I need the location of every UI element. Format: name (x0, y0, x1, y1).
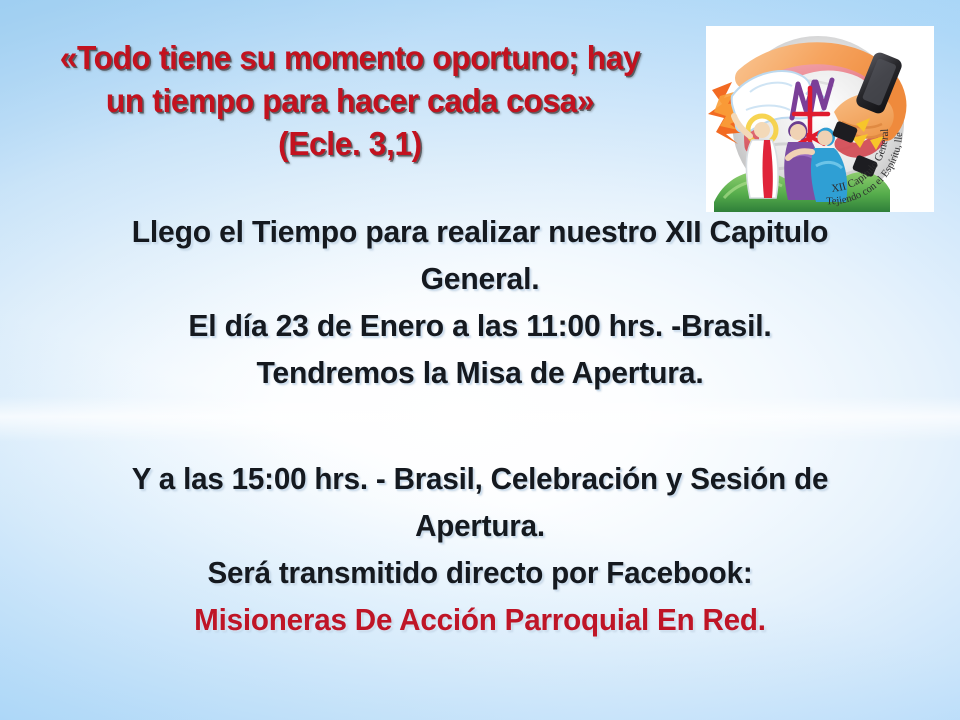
announcement-line-7: Será transmitido directo por Facebook: (14, 550, 945, 597)
scripture-quote-block: «Todo tiene su momento oportuno; hay un … (0, 36, 700, 165)
announcement-line-3: El día 23 de Enero a las 11:00 hrs. -Bra… (14, 302, 945, 349)
scripture-quote-line-1: «Todo tiene su momento oportuno; hay (14, 36, 686, 79)
xii-capitulo-general-logo: Tejiendo con el Espíritu, llenas de espe… (706, 26, 934, 212)
announcement-line-1: Llego el Tiempo para realizar nuestro XI… (14, 208, 945, 255)
scripture-quote-line-2: un tiempo para hacer cada cosa» (14, 79, 686, 122)
announcement-lower-block: Y a las 15:00 hrs. - Brasil, Celebración… (0, 456, 960, 644)
announcement-line-2: General. (14, 255, 945, 302)
announcement-line-4: Tendremos la Misa de Apertura. (14, 349, 945, 396)
facebook-page-name: Misioneras De Acción Parroquial En Red. (14, 597, 945, 644)
announcement-line-5: Y a las 15:00 hrs. - Brasil, Celebración… (14, 456, 945, 503)
announcement-upper-block: Llego el Tiempo para realizar nuestro XI… (0, 208, 960, 396)
announcement-slide: «Todo tiene su momento oportuno; hay un … (0, 0, 960, 720)
announcement-line-6: Apertura. (14, 503, 945, 550)
scripture-quote-reference: (Ecle. 3,1) (14, 122, 686, 165)
